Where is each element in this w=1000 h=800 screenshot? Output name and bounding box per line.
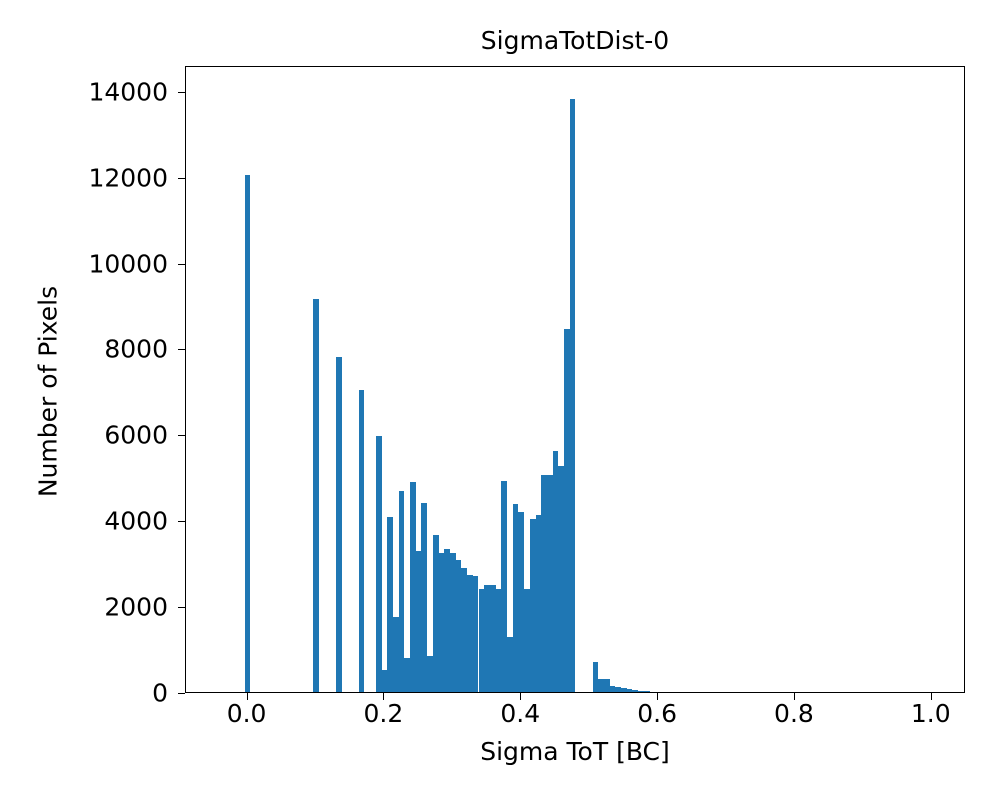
y-tick-label: 4000 — [104, 509, 168, 534]
y-tick-mark — [178, 264, 185, 265]
y-tick-label: 12000 — [88, 165, 168, 190]
histogram-bar — [570, 99, 576, 692]
y-tick-mark — [178, 92, 185, 93]
y-tick-label: 0 — [152, 681, 168, 706]
x-tick-label: 0.0 — [227, 701, 267, 726]
y-tick-label: 8000 — [104, 337, 168, 362]
y-axis-label: Number of Pixels — [36, 112, 61, 672]
y-tick-label: 14000 — [88, 79, 168, 104]
histogram-bar — [359, 390, 365, 692]
plot-area — [185, 66, 965, 693]
histogram-bars — [186, 67, 964, 692]
y-tick-label: 10000 — [88, 251, 168, 276]
x-tick-label: 0.8 — [774, 701, 814, 726]
y-tick-mark — [178, 521, 185, 522]
x-tick-label: 0.4 — [500, 701, 540, 726]
x-tick-label: 0.6 — [637, 701, 677, 726]
histogram-bar — [245, 175, 251, 692]
y-tick-mark — [178, 178, 185, 179]
histogram-bar — [313, 299, 319, 692]
y-tick-mark — [178, 349, 185, 350]
x-tick-label: 0.2 — [364, 701, 404, 726]
histogram-bar — [336, 357, 342, 692]
y-tick-label: 6000 — [104, 423, 168, 448]
y-tick-mark — [178, 693, 185, 694]
figure-canvas: SigmaTotDist-0 0200040006000800010000120… — [0, 0, 1000, 800]
histogram-bar — [376, 436, 382, 692]
x-axis-label: Sigma ToT [BC] — [185, 739, 965, 764]
y-tick-mark — [178, 607, 185, 608]
y-axis-tick-labels: 02000400060008000100001200014000 — [0, 0, 168, 800]
y-tick-label: 2000 — [104, 595, 168, 620]
x-tick-label: 1.0 — [911, 701, 951, 726]
y-tick-mark — [178, 435, 185, 436]
